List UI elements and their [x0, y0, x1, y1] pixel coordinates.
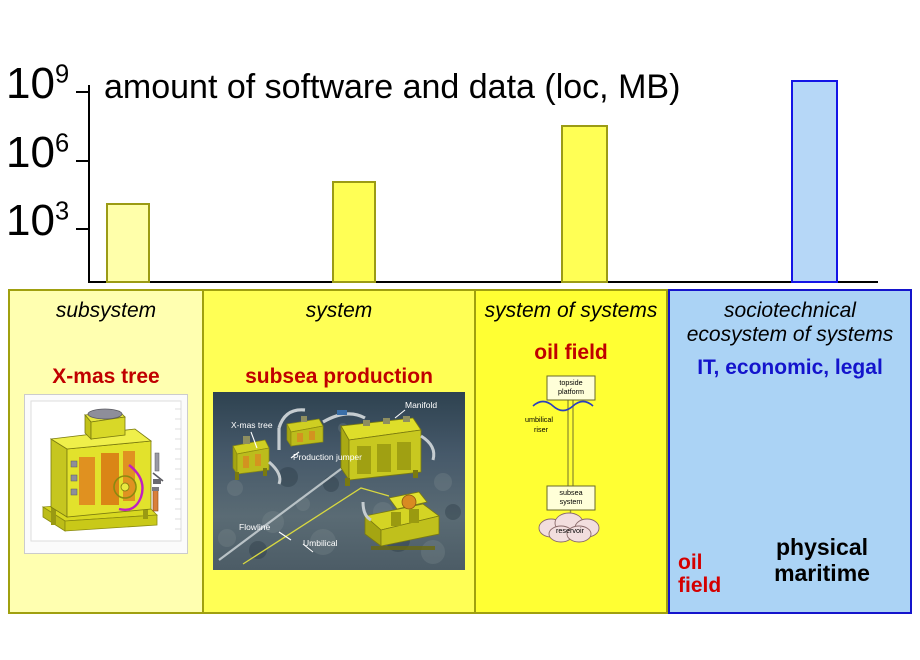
y-tick-mantissa: 10: [6, 59, 55, 108]
matrix-column-system[interactable]: system subsea production: [204, 289, 476, 614]
y-axis-tick-mark-1e3: [76, 228, 89, 230]
y-axis-tick-label-1e6: 106: [6, 131, 69, 175]
column-subtitle: subsea production: [241, 365, 437, 388]
xmas-tree-cad-render: [24, 394, 188, 554]
column-subtitle-it-economic-legal: IT, economic, legal: [691, 356, 889, 380]
column-title: system: [302, 299, 377, 323]
bar-sociotechnical-ecosystem: [791, 80, 838, 283]
matrix-column-sociotechnical-ecosystem[interactable]: sociotechnical ecosystem of systems IT, …: [668, 289, 912, 614]
svg-text:system: system: [560, 497, 583, 506]
y-axis-tick-mark-1e6: [76, 160, 89, 162]
column-label-oil-field: oil field: [678, 535, 734, 598]
svg-text:Flowline: Flowline: [239, 522, 270, 532]
svg-text:reservoir: reservoir: [556, 526, 585, 535]
y-tick-mantissa: 10: [6, 196, 55, 245]
column-subtitle: X-mas tree: [48, 365, 163, 388]
bar-chart: 109 106 103 amount of software and data …: [0, 0, 920, 288]
svg-text:subsea: subsea: [559, 488, 582, 497]
svg-text:riser: riser: [534, 425, 549, 434]
svg-text:umbilical: umbilical: [525, 415, 553, 424]
oil-field-schematic: topside platform umbilical riser subsea …: [511, 368, 631, 543]
column-title: subsystem: [52, 299, 160, 323]
bar-system: [332, 181, 376, 283]
svg-text:Production jumper: Production jumper: [293, 452, 362, 462]
column-bottom-labels: oil field physical maritime: [670, 535, 910, 598]
y-axis-tick-mark-1e9: [76, 91, 89, 93]
y-tick-exponent: 9: [55, 60, 69, 88]
column-title: system of systems: [481, 299, 662, 323]
y-tick-exponent: 3: [55, 197, 69, 225]
y-axis-tick-label-1e3: 103: [6, 199, 69, 243]
bar-subsystem: [106, 203, 150, 283]
matrix-column-system-of-systems[interactable]: system of systems oil field topside plat…: [476, 289, 668, 614]
column-label-physical-maritime: physical maritime: [742, 535, 902, 587]
svg-text:Umbilical: Umbilical: [303, 538, 338, 548]
subsea-production-photo: X-mas tree Manifold Production jumper Fl…: [213, 392, 465, 570]
maritime-line: maritime: [742, 561, 902, 587]
svg-text:topside: topside: [559, 378, 582, 387]
svg-text:platform: platform: [558, 387, 584, 396]
bar-system-of-systems: [561, 125, 608, 283]
field-line: field: [678, 574, 734, 598]
oil-line: oil: [678, 551, 734, 575]
svg-text:Manifold: Manifold: [405, 400, 437, 410]
y-tick-mantissa: 10: [6, 128, 55, 177]
column-title: sociotechnical ecosystem of systems: [670, 299, 910, 346]
chart-title: amount of software and data (loc, MB): [104, 68, 680, 107]
x-axis-line: [88, 281, 878, 283]
svg-text:X-mas tree: X-mas tree: [231, 420, 273, 430]
y-axis-tick-label-1e9: 109: [6, 62, 69, 106]
y-tick-exponent: 6: [55, 129, 69, 157]
physical-line: physical: [742, 535, 902, 561]
comparison-matrix: subsystem X-mas tree: [8, 289, 912, 614]
column-subtitle: oil field: [530, 341, 612, 364]
matrix-column-subsystem[interactable]: subsystem X-mas tree: [8, 289, 204, 614]
y-axis-line: [88, 85, 90, 283]
